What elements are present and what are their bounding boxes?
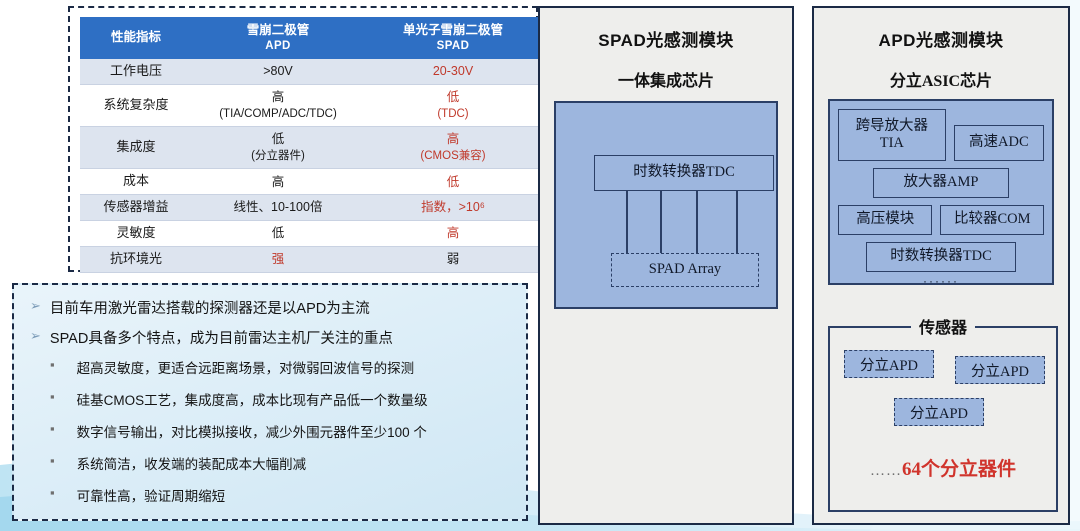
comparison-table-card: 性能指标 雪崩二极管 APD 单光子雪崩二极管 SPAD 工作电压 >80V bbox=[68, 6, 538, 272]
row-value-spad-note: (CMOS兼容) bbox=[420, 150, 485, 162]
row-value-spad-main: 低 bbox=[447, 90, 460, 104]
apd-chip-row: 高压模块 比较器COM bbox=[838, 205, 1044, 235]
table-row: 工作电压 >80V 20-30V bbox=[80, 59, 542, 84]
dot-bullet-icon: ▪ bbox=[50, 357, 55, 374]
row-value-apd: 低 bbox=[192, 221, 364, 247]
table-row: 集成度 低 (分立器件) 高 (CMOS兼容) bbox=[80, 127, 542, 169]
sensor-note-count: 64个分立器件 bbox=[902, 459, 1016, 480]
row-value-spad: 低 bbox=[364, 169, 542, 195]
row-value-spad: 指数，>10⁶ bbox=[364, 195, 542, 221]
dot-bullet-icon: ▪ bbox=[50, 485, 55, 502]
table-row: 抗环境光 强 弱 bbox=[80, 246, 542, 272]
row-value-apd-note: (TIA/COMP/ADC/TDC) bbox=[219, 108, 337, 120]
row-value-spad: 高 bbox=[364, 221, 542, 247]
arrow-bullet-icon: ➢ bbox=[30, 297, 41, 315]
bullet-level1-text: SPAD具备多个特点，成为目前雷达主机厂关注的重点 bbox=[50, 327, 393, 348]
discrete-apd-chip: 分立APD bbox=[955, 356, 1045, 384]
spad-module-panel: SPAD光感测模块 一体集成芯片 时数转换器TDC SPAD Array bbox=[538, 6, 794, 525]
spad-tdc-block: 时数转换器TDC bbox=[594, 155, 774, 191]
apd-panel-title: APD光感测模块 bbox=[814, 26, 1068, 51]
bullet-level1-item: ➢ 目前车用激光雷达搭载的探测器还是以APD为主流 bbox=[30, 297, 516, 318]
connector-wire bbox=[660, 191, 662, 253]
column-header-metric-label: 性能指标 bbox=[111, 30, 161, 44]
apd-chip-row: 跨导放大器 TIA 高速ADC bbox=[838, 109, 1044, 161]
apd-discrete-asic-box: 跨导放大器 TIA 高速ADC 放大器AMP 高压模块 比较器COM 时数转换器… bbox=[828, 99, 1054, 285]
apd-chip-ellipsis: ······ bbox=[838, 274, 1044, 288]
row-value-apd: 高 (TIA/COMP/ADC/TDC) bbox=[192, 84, 364, 126]
apd-tia-label: 跨导放大器 TIA bbox=[856, 118, 929, 153]
row-value-apd: 线性、10-100倍 bbox=[192, 195, 364, 221]
summary-bullet-card: ➢ 目前车用激光雷达搭载的探测器还是以APD为主流 ➢ SPAD具备多个特点，成… bbox=[12, 283, 528, 521]
bullet-level2-item: ▪ 超高灵敏度，更适合远距离场景，对微弱回波信号的探测 bbox=[50, 357, 516, 377]
spad-apd-comparison-table: 性能指标 雪崩二极管 APD 单光子雪崩二极管 SPAD 工作电压 >80V bbox=[80, 17, 542, 273]
apd-sensor-group: 传感器 分立APD 分立APD 分立APD ……64个分立器件 bbox=[828, 326, 1058, 512]
table-header-row: 性能指标 雪崩二极管 APD 单光子雪崩二极管 SPAD bbox=[80, 17, 542, 59]
row-value-spad-main: 高 bbox=[447, 132, 460, 146]
row-label: 集成度 bbox=[80, 127, 192, 169]
bullet-level2-item: ▪ 硅基CMOS工艺，集成度高，成本比现有产品低一个数量级 bbox=[50, 389, 516, 409]
column-header-metric: 性能指标 bbox=[80, 17, 192, 59]
dot-bullet-icon: ▪ bbox=[50, 453, 55, 470]
discrete-apd-chip: 分立APD bbox=[894, 398, 984, 426]
apd-amp-block: 放大器AMP bbox=[873, 168, 1009, 198]
row-label: 抗环境光 bbox=[80, 246, 192, 272]
apd-comparator-block: 比较器COM bbox=[940, 205, 1044, 235]
row-label: 工作电压 bbox=[80, 59, 192, 84]
connector-wire bbox=[626, 191, 628, 253]
column-header-spad: 单光子雪崩二极管 SPAD bbox=[364, 17, 542, 59]
dot-bullet-icon: ▪ bbox=[50, 421, 55, 438]
bullet-level1-item: ➢ SPAD具备多个特点，成为目前雷达主机厂关注的重点 bbox=[30, 327, 516, 348]
discrete-apd-chip: 分立APD bbox=[844, 350, 934, 378]
row-value-apd: 高 bbox=[192, 169, 364, 195]
table-row: 传感器增益 线性、10-100倍 指数，>10⁶ bbox=[80, 195, 542, 221]
column-header-apd-label: 雪崩二极管 bbox=[247, 23, 310, 37]
bullet-level2-text: 硅基CMOS工艺，集成度高，成本比现有产品低一个数量级 bbox=[77, 389, 428, 409]
apd-high-voltage-block: 高压模块 bbox=[838, 205, 932, 235]
spad-array-block: SPAD Array bbox=[611, 253, 759, 287]
row-value-spad: 20-30V bbox=[364, 59, 542, 84]
row-label: 系统复杂度 bbox=[80, 84, 192, 126]
bullet-level2-text: 可靠性高，验证周期缩短 bbox=[77, 485, 226, 505]
row-value-spad: 高 (CMOS兼容) bbox=[364, 127, 542, 169]
bullet-level2-text: 系统简洁，收发端的装配成本大幅削减 bbox=[77, 453, 307, 473]
row-value-apd-main: 高 bbox=[272, 90, 285, 104]
apd-panel-subtitle: 分立ASIC芯片 bbox=[814, 67, 1068, 91]
row-value-apd-note: (分立器件) bbox=[251, 150, 305, 162]
apd-tdc-block: 时数转换器TDC bbox=[866, 242, 1016, 272]
spad-integrated-chip-box: 时数转换器TDC SPAD Array bbox=[554, 101, 778, 309]
column-header-apd: 雪崩二极管 APD bbox=[192, 17, 364, 59]
dot-bullet-icon: ▪ bbox=[50, 389, 55, 406]
connector-wire bbox=[736, 191, 738, 253]
spad-panel-title: SPAD光感测模块 bbox=[540, 26, 792, 51]
sensor-note-dots: …… bbox=[870, 463, 902, 479]
bullet-level2-text: 数字信号输出，对比模拟接收，减少外围元器件至少100 个 bbox=[77, 421, 427, 441]
row-value-apd: >80V bbox=[192, 59, 364, 84]
row-label: 成本 bbox=[80, 169, 192, 195]
table-row: 系统复杂度 高 (TIA/COMP/ADC/TDC) 低 (TDC) bbox=[80, 84, 542, 126]
row-value-spad: 低 (TDC) bbox=[364, 84, 542, 126]
row-value-apd: 低 (分立器件) bbox=[192, 127, 364, 169]
row-label: 传感器增益 bbox=[80, 195, 192, 221]
apd-module-panel: APD光感测模块 分立ASIC芯片 跨导放大器 TIA 高速ADC 放大器AMP… bbox=[812, 6, 1070, 525]
apd-tia-line1: 跨导放大器 bbox=[856, 118, 929, 134]
row-value-spad-note: (TDC) bbox=[437, 108, 468, 120]
row-label: 灵敏度 bbox=[80, 221, 192, 247]
column-header-spad-sub: SPAD bbox=[366, 39, 540, 53]
bullet-level2-item: ▪ 可靠性高，验证周期缩短 bbox=[50, 485, 516, 505]
table-row: 灵敏度 低 高 bbox=[80, 221, 542, 247]
discrete-component-count-note: ……64个分立器件 bbox=[830, 454, 1056, 481]
bullet-level1-text: 目前车用激光雷达搭载的探测器还是以APD为主流 bbox=[50, 297, 370, 318]
apd-sensor-group-title: 传感器 bbox=[911, 314, 975, 338]
apd-tia-line2: TIA bbox=[880, 135, 904, 151]
row-value-apd-main: 低 bbox=[272, 132, 285, 146]
column-header-apd-sub: APD bbox=[194, 39, 362, 53]
spad-panel-subtitle: 一体集成芯片 bbox=[540, 67, 792, 91]
apd-tia-block: 跨导放大器 TIA bbox=[838, 109, 946, 161]
row-value-spad: 弱 bbox=[364, 246, 542, 272]
bullet-level2-text: 超高灵敏度，更适合远距离场景，对微弱回波信号的探测 bbox=[77, 357, 415, 377]
bullet-level2-item: ▪ 系统简洁，收发端的装配成本大幅削减 bbox=[50, 453, 516, 473]
table-row: 成本 高 低 bbox=[80, 169, 542, 195]
connector-wire bbox=[696, 191, 698, 253]
apd-adc-block: 高速ADC bbox=[954, 125, 1044, 161]
row-value-apd: 强 bbox=[192, 246, 364, 272]
column-header-spad-label: 单光子雪崩二极管 bbox=[403, 23, 503, 37]
bullet-level2-item: ▪ 数字信号输出，对比模拟接收，减少外围元器件至少100 个 bbox=[50, 421, 516, 441]
arrow-bullet-icon: ➢ bbox=[30, 327, 41, 345]
